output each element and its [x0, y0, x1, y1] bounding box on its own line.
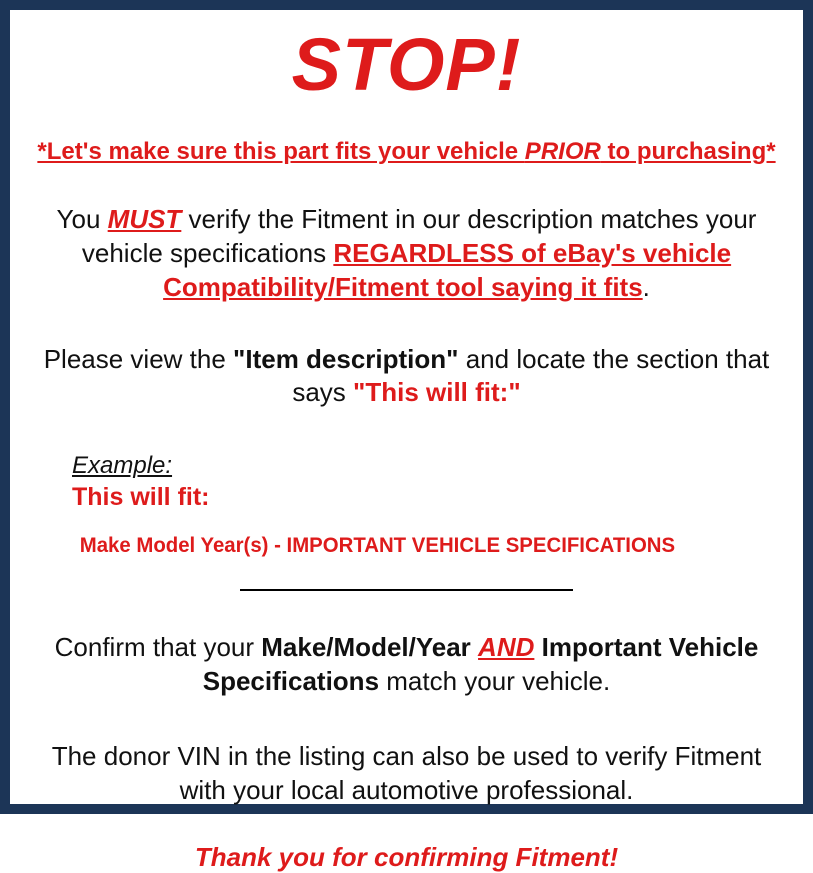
item-description-quote: "Item description" [233, 344, 458, 374]
confirm-text-lead: Confirm that your [55, 632, 262, 662]
must-emphasis: MUST [108, 204, 182, 234]
view-text-lead: Please view the [44, 344, 233, 374]
subtitle-banner: *Let's make sure this part fits your veh… [32, 138, 782, 166]
paragraph-donor-vin: The donor VIN in the listing can also be… [24, 740, 789, 808]
subtitle-prior-emphasis: PRIOR [525, 138, 601, 165]
subtitle-text-after: to purchasing* [601, 138, 776, 165]
fitment-notice-card: STOP! *Let's make sure this part fits yo… [0, 0, 813, 814]
example-block: Example: This will fit: Make Model Year(… [24, 452, 789, 558]
paragraph-confirm-match: Confirm that your Make/Model/Year AND Im… [24, 631, 789, 699]
example-specification-line: Make Model Year(s) - IMPORTANT VEHICLE S… [72, 534, 767, 558]
stop-heading: STOP! [24, 28, 789, 102]
example-this-will-fit-heading: This will fit: [72, 482, 789, 512]
make-model-year-emphasis: Make/Model/Year [261, 632, 471, 662]
confirm-text-tail: match your vehicle. [379, 666, 610, 696]
and-emphasis: AND [478, 632, 534, 662]
must-text-lead: You [57, 204, 108, 234]
must-text-period: . [643, 272, 650, 302]
section-divider [240, 589, 573, 591]
subtitle-text-before: *Let's make sure this part fits your veh… [37, 138, 524, 165]
example-label: Example: [72, 452, 789, 480]
paragraph-view-description: Please view the "Item description" and l… [24, 343, 789, 411]
this-will-fit-quote: "This will fit:" [353, 377, 521, 407]
paragraph-must-verify: You MUST verify the Fitment in our descr… [24, 203, 789, 304]
thank-you-line: Thank you for confirming Fitment! [24, 842, 789, 873]
